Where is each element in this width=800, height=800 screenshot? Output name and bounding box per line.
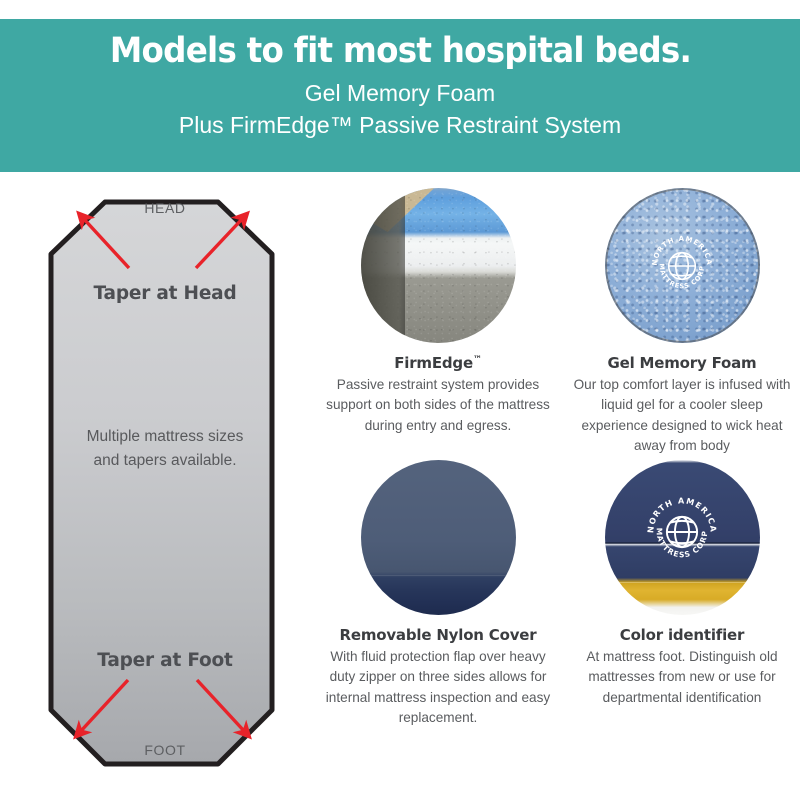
feature-title-gel-memory-foam: Gel Memory Foam — [608, 354, 757, 372]
gold-band-edge — [605, 582, 760, 583]
feature-title-text: Removable Nylon Cover — [340, 626, 537, 644]
feature-title-removable-nylon-cover: Removable Nylon Cover — [340, 626, 537, 644]
gel-memory-foam-photo: NORTH AMERICA MATTRESS CORP. — [605, 188, 760, 343]
svg-text:NORTH AMERICA: NORTH AMERICA — [651, 234, 714, 265]
page-title: Models to fit most hospital beds. — [109, 33, 690, 70]
firmedge-photo — [361, 188, 516, 343]
feature-title-firmedge: FirmEdge™ — [394, 354, 482, 372]
color-identifier-photo: NORTH AMERICA MATTRESS CORP. — [605, 460, 760, 615]
taper-at-head-label: Taper at Head — [0, 283, 330, 304]
mattress-shape-svg — [0, 180, 330, 790]
head-label: HEAD — [0, 200, 330, 216]
header-subtitle: Gel Memory Foam Plus FirmEdge™ Passive R… — [179, 77, 621, 142]
foam-grain-texture — [361, 188, 516, 343]
globe-icon: NORTH AMERICA MATTRESS CORP. — [640, 490, 724, 574]
feature-color-identifier: NORTH AMERICA MATTRESS CORP. Color ident… — [564, 460, 800, 750]
feature-firmedge: FirmEdge™ Passive restraint system provi… — [320, 188, 556, 460]
center-note-line2: and tapers available. — [0, 449, 330, 473]
feature-desc-removable-nylon-cover: With fluid protection flap over heavy du… — [324, 647, 552, 729]
feature-title-color-identifier: Color identifier — [620, 626, 744, 644]
header-subtitle-line2: Plus FirmEdge™ Passive Restraint System — [179, 109, 621, 142]
mattress-center-note: Multiple mattress sizes and tapers avail… — [0, 425, 330, 472]
feature-desc-gel-memory-foam: Our top comfort layer is infused with li… — [568, 375, 796, 457]
mattress-diagram: HEAD FOOT Taper at Head Taper at Foot Mu… — [0, 180, 330, 790]
feature-title-text: Color identifier — [620, 626, 744, 644]
nylon-cover-photo — [361, 460, 516, 615]
foot-label: FOOT — [0, 742, 330, 758]
feature-title-text: FirmEdge — [394, 354, 473, 372]
feature-desc-color-identifier: At mattress foot. Distinguish old mattre… — [568, 647, 796, 708]
globe-icon: NORTH AMERICA MATTRESS CORP. — [645, 229, 719, 303]
taper-at-foot-label: Taper at Foot — [0, 650, 330, 671]
header-banner: Models to fit most hospital beds. Gel Me… — [0, 19, 800, 172]
header-subtitle-line1: Gel Memory Foam — [179, 77, 621, 110]
trademark-symbol: ™ — [473, 355, 482, 365]
feature-grid: FirmEdge™ Passive restraint system provi… — [320, 188, 800, 788]
feature-desc-firmedge: Passive restraint system provides suppor… — [324, 375, 552, 436]
feature-gel-memory-foam: NORTH AMERICA MATTRESS CORP. Gel Memory … — [564, 188, 800, 460]
feature-removable-nylon-cover: Removable Nylon Cover With fluid protect… — [320, 460, 556, 750]
logo-top-text: NORTH AMERICA — [651, 234, 714, 265]
center-note-line1: Multiple mattress sizes — [0, 425, 330, 449]
feature-title-text: Gel Memory Foam — [608, 354, 757, 372]
